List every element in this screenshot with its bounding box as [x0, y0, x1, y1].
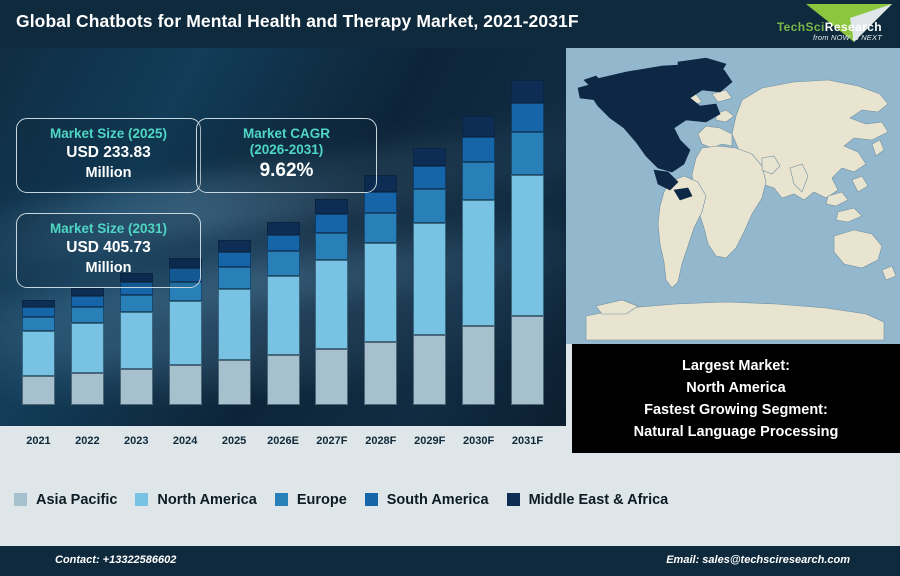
- stat-box-market-size-2025: Market Size (2025) USD 233.83 Million: [16, 118, 201, 193]
- bar-segment: [218, 240, 251, 252]
- world-map: [566, 48, 900, 344]
- legend-swatch: [14, 493, 27, 506]
- bar-segment: [71, 288, 104, 296]
- stat-title: Market Size (2031): [27, 221, 190, 237]
- bar-segment: [315, 233, 348, 260]
- stat-title: Market CAGR: [207, 126, 366, 142]
- x-axis-label: 2031F: [498, 435, 558, 447]
- footer-email: Email: sales@techsciresearch.com: [666, 554, 850, 566]
- legend-item[interactable]: Middle East & Africa: [507, 492, 669, 508]
- bar-column: [267, 222, 300, 405]
- techsci-logo: TechSciResearch from NOW to NEXT: [720, 0, 896, 48]
- stat-box-market-size-2031: Market Size (2031) USD 405.73 Million: [16, 213, 201, 288]
- bar-column: [364, 175, 397, 405]
- chart-panel: 202120222023202420252026E2027F2028F2029F…: [0, 48, 566, 453]
- bar-column: [218, 240, 251, 405]
- logo-research-text: Research: [825, 20, 882, 34]
- bar-column: [413, 148, 446, 405]
- legend-item[interactable]: North America: [135, 492, 256, 508]
- bar-segment: [364, 213, 397, 243]
- bar-segment: [71, 307, 104, 323]
- callout-largest-market-value: North America: [686, 377, 785, 399]
- bar-segment: [413, 335, 446, 405]
- legend-item[interactable]: South America: [365, 492, 489, 508]
- bar-segment: [413, 189, 446, 223]
- bar-segment: [267, 276, 300, 355]
- callout-largest-market-label: Largest Market:: [682, 355, 790, 377]
- footer-bar: Contact: +13322586602 Email: sales@techs…: [0, 546, 900, 576]
- stacked-bar: [71, 288, 104, 405]
- bar-column: [120, 273, 153, 405]
- bar-segment: [511, 316, 544, 405]
- bar-segment: [267, 222, 300, 235]
- stat-title: Market Size (2025): [27, 126, 190, 142]
- bar-segment: [120, 295, 153, 312]
- legend-swatch: [507, 493, 520, 506]
- bar-segment: [462, 200, 495, 326]
- bar-column: [511, 80, 544, 405]
- stacked-bar: [315, 199, 348, 405]
- bar-segment: [413, 148, 446, 166]
- bar-segment: [169, 365, 202, 405]
- bar-segment: [267, 355, 300, 405]
- bar-segment: [511, 132, 544, 175]
- bar-segment: [364, 192, 397, 213]
- bar-segment: [218, 252, 251, 267]
- footer-contact: Contact: +13322586602: [55, 554, 176, 566]
- bar-segment: [315, 349, 348, 405]
- stacked-bar: [22, 300, 55, 405]
- bar-segment: [71, 373, 104, 405]
- logo-tech-text: TechSci: [777, 20, 825, 34]
- legend-swatch: [135, 493, 148, 506]
- legend-swatch: [275, 493, 288, 506]
- bar-segment: [462, 116, 495, 137]
- bar-segment: [462, 137, 495, 163]
- stacked-bar: [462, 116, 495, 405]
- bar-column: [22, 300, 55, 405]
- legend-item[interactable]: Asia Pacific: [14, 492, 117, 508]
- bar-segment: [364, 243, 397, 343]
- bar-segment: [511, 80, 544, 103]
- bar-column: [462, 116, 495, 405]
- world-map-svg: [566, 48, 900, 344]
- bar-segment: [462, 162, 495, 200]
- bar-segment: [22, 307, 55, 317]
- logo-wordmark: TechSciResearch: [777, 20, 882, 34]
- bar-segment: [315, 214, 348, 233]
- callout-fastest-segment-value: Natural Language Processing: [634, 421, 839, 443]
- legend-label: Asia Pacific: [36, 492, 117, 508]
- bar-segment: [511, 175, 544, 317]
- infographic-root: Global Chatbots for Mental Health and Th…: [0, 0, 900, 576]
- bar-segment: [315, 260, 348, 349]
- bar-segment: [120, 369, 153, 405]
- stacked-bar: [120, 273, 153, 405]
- bar-segment: [71, 323, 104, 373]
- bar-column: [315, 199, 348, 405]
- bar-segment: [267, 235, 300, 251]
- bar-segment: [413, 223, 446, 335]
- stat-unit: Million: [27, 163, 190, 183]
- stacked-bar: [413, 148, 446, 405]
- stat-value: USD 233.83: [27, 142, 190, 163]
- stat-value: 9.62%: [207, 158, 366, 183]
- bar-column: [71, 288, 104, 405]
- bar-segment: [267, 251, 300, 276]
- legend-label: Middle East & Africa: [529, 492, 669, 508]
- bar-segment: [315, 199, 348, 214]
- stat-value: USD 405.73: [27, 237, 190, 258]
- bar-segment: [22, 300, 55, 307]
- bar-segment: [22, 376, 55, 405]
- page-title: Global Chatbots for Mental Health and Th…: [16, 11, 579, 32]
- stat-unit: Million: [27, 258, 190, 278]
- bar-segment: [511, 103, 544, 132]
- legend-item[interactable]: Europe: [275, 492, 347, 508]
- stat-box-market-cagr: Market CAGR (2026-2031) 9.62%: [196, 118, 377, 193]
- bar-segment: [22, 331, 55, 376]
- callout-fastest-segment-label: Fastest Growing Segment:: [644, 399, 828, 421]
- logo-tagline: from NOW to NEXT: [813, 33, 882, 42]
- header-bar: Global Chatbots for Mental Health and Th…: [0, 0, 900, 48]
- stacked-bar: [364, 175, 397, 405]
- x-axis-labels: 202120222023202420252026E2027F2028F2029F…: [0, 426, 566, 453]
- bar-segment: [71, 296, 104, 307]
- legend-label: South America: [387, 492, 489, 508]
- bar-segment: [169, 301, 202, 364]
- bar-segment: [462, 326, 495, 405]
- bar-segment: [413, 166, 446, 189]
- bar-segment: [218, 360, 251, 405]
- legend-label: North America: [157, 492, 256, 508]
- bar-segment: [218, 289, 251, 360]
- stat-subtitle: (2026-2031): [207, 142, 366, 158]
- key-findings-callout: Largest Market: North America Fastest Gr…: [572, 344, 900, 453]
- bar-segment: [218, 267, 251, 289]
- bar-segment: [364, 342, 397, 405]
- stacked-bar: [267, 222, 300, 405]
- bar-segment: [22, 317, 55, 331]
- stacked-bar: [218, 240, 251, 405]
- stacked-bar: [511, 80, 544, 405]
- legend-swatch: [365, 493, 378, 506]
- chart-legend: Asia PacificNorth AmericaEuropeSouth Ame…: [0, 453, 900, 546]
- bar-segment: [120, 312, 153, 369]
- legend-label: Europe: [297, 492, 347, 508]
